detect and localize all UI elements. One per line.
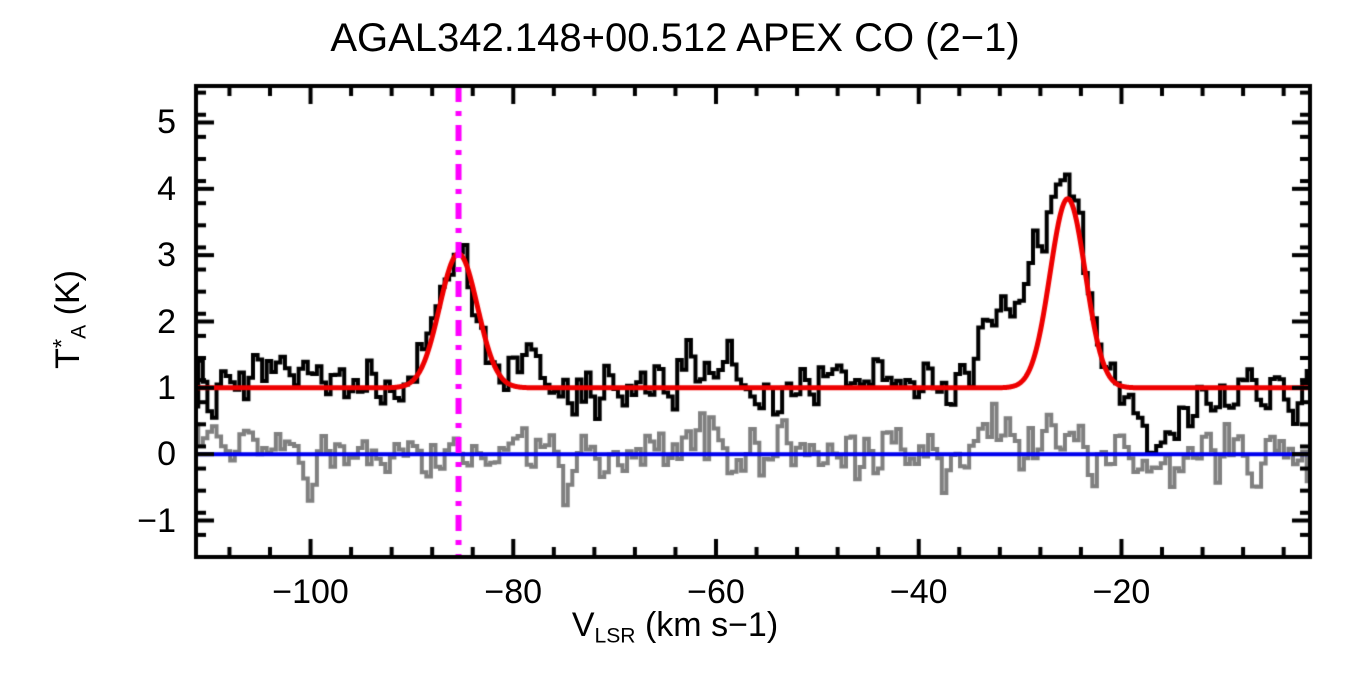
- spectrum-figure: AGAL342.148+00.512 APEX CO (2−1) VLSR (k…: [0, 0, 1350, 675]
- y-axis-label-star: *: [49, 339, 76, 348]
- x-axis-label-subscript: LSR: [595, 624, 636, 647]
- x-axis-label-unit-close: ): [767, 606, 778, 644]
- x-axis-label-unit-open: (km s: [636, 606, 729, 644]
- x-tick-label: −80: [484, 575, 542, 609]
- y-tick-label: 0: [66, 437, 176, 471]
- x-tick-label: −60: [687, 575, 745, 609]
- y-tick-label: 3: [66, 238, 176, 272]
- x-tick-label: −20: [1093, 575, 1151, 609]
- y-axis-label-symbol: T: [49, 348, 87, 369]
- x-tick-label: −100: [272, 575, 349, 609]
- y-tick-label: 4: [66, 172, 176, 206]
- x-axis-label: VLSR (km s−1): [0, 608, 1350, 646]
- x-axis-label-symbol: V: [572, 606, 595, 644]
- y-tick-label: −1: [66, 504, 176, 538]
- y-tick-label: 2: [66, 305, 176, 339]
- x-axis-label-superscript: −1: [728, 606, 767, 644]
- plot-title: AGAL342.148+00.512 APEX CO (2−1): [0, 18, 1350, 58]
- y-tick-label: 5: [66, 105, 176, 139]
- x-tick-label: −40: [890, 575, 948, 609]
- y-tick-label: 1: [66, 371, 176, 405]
